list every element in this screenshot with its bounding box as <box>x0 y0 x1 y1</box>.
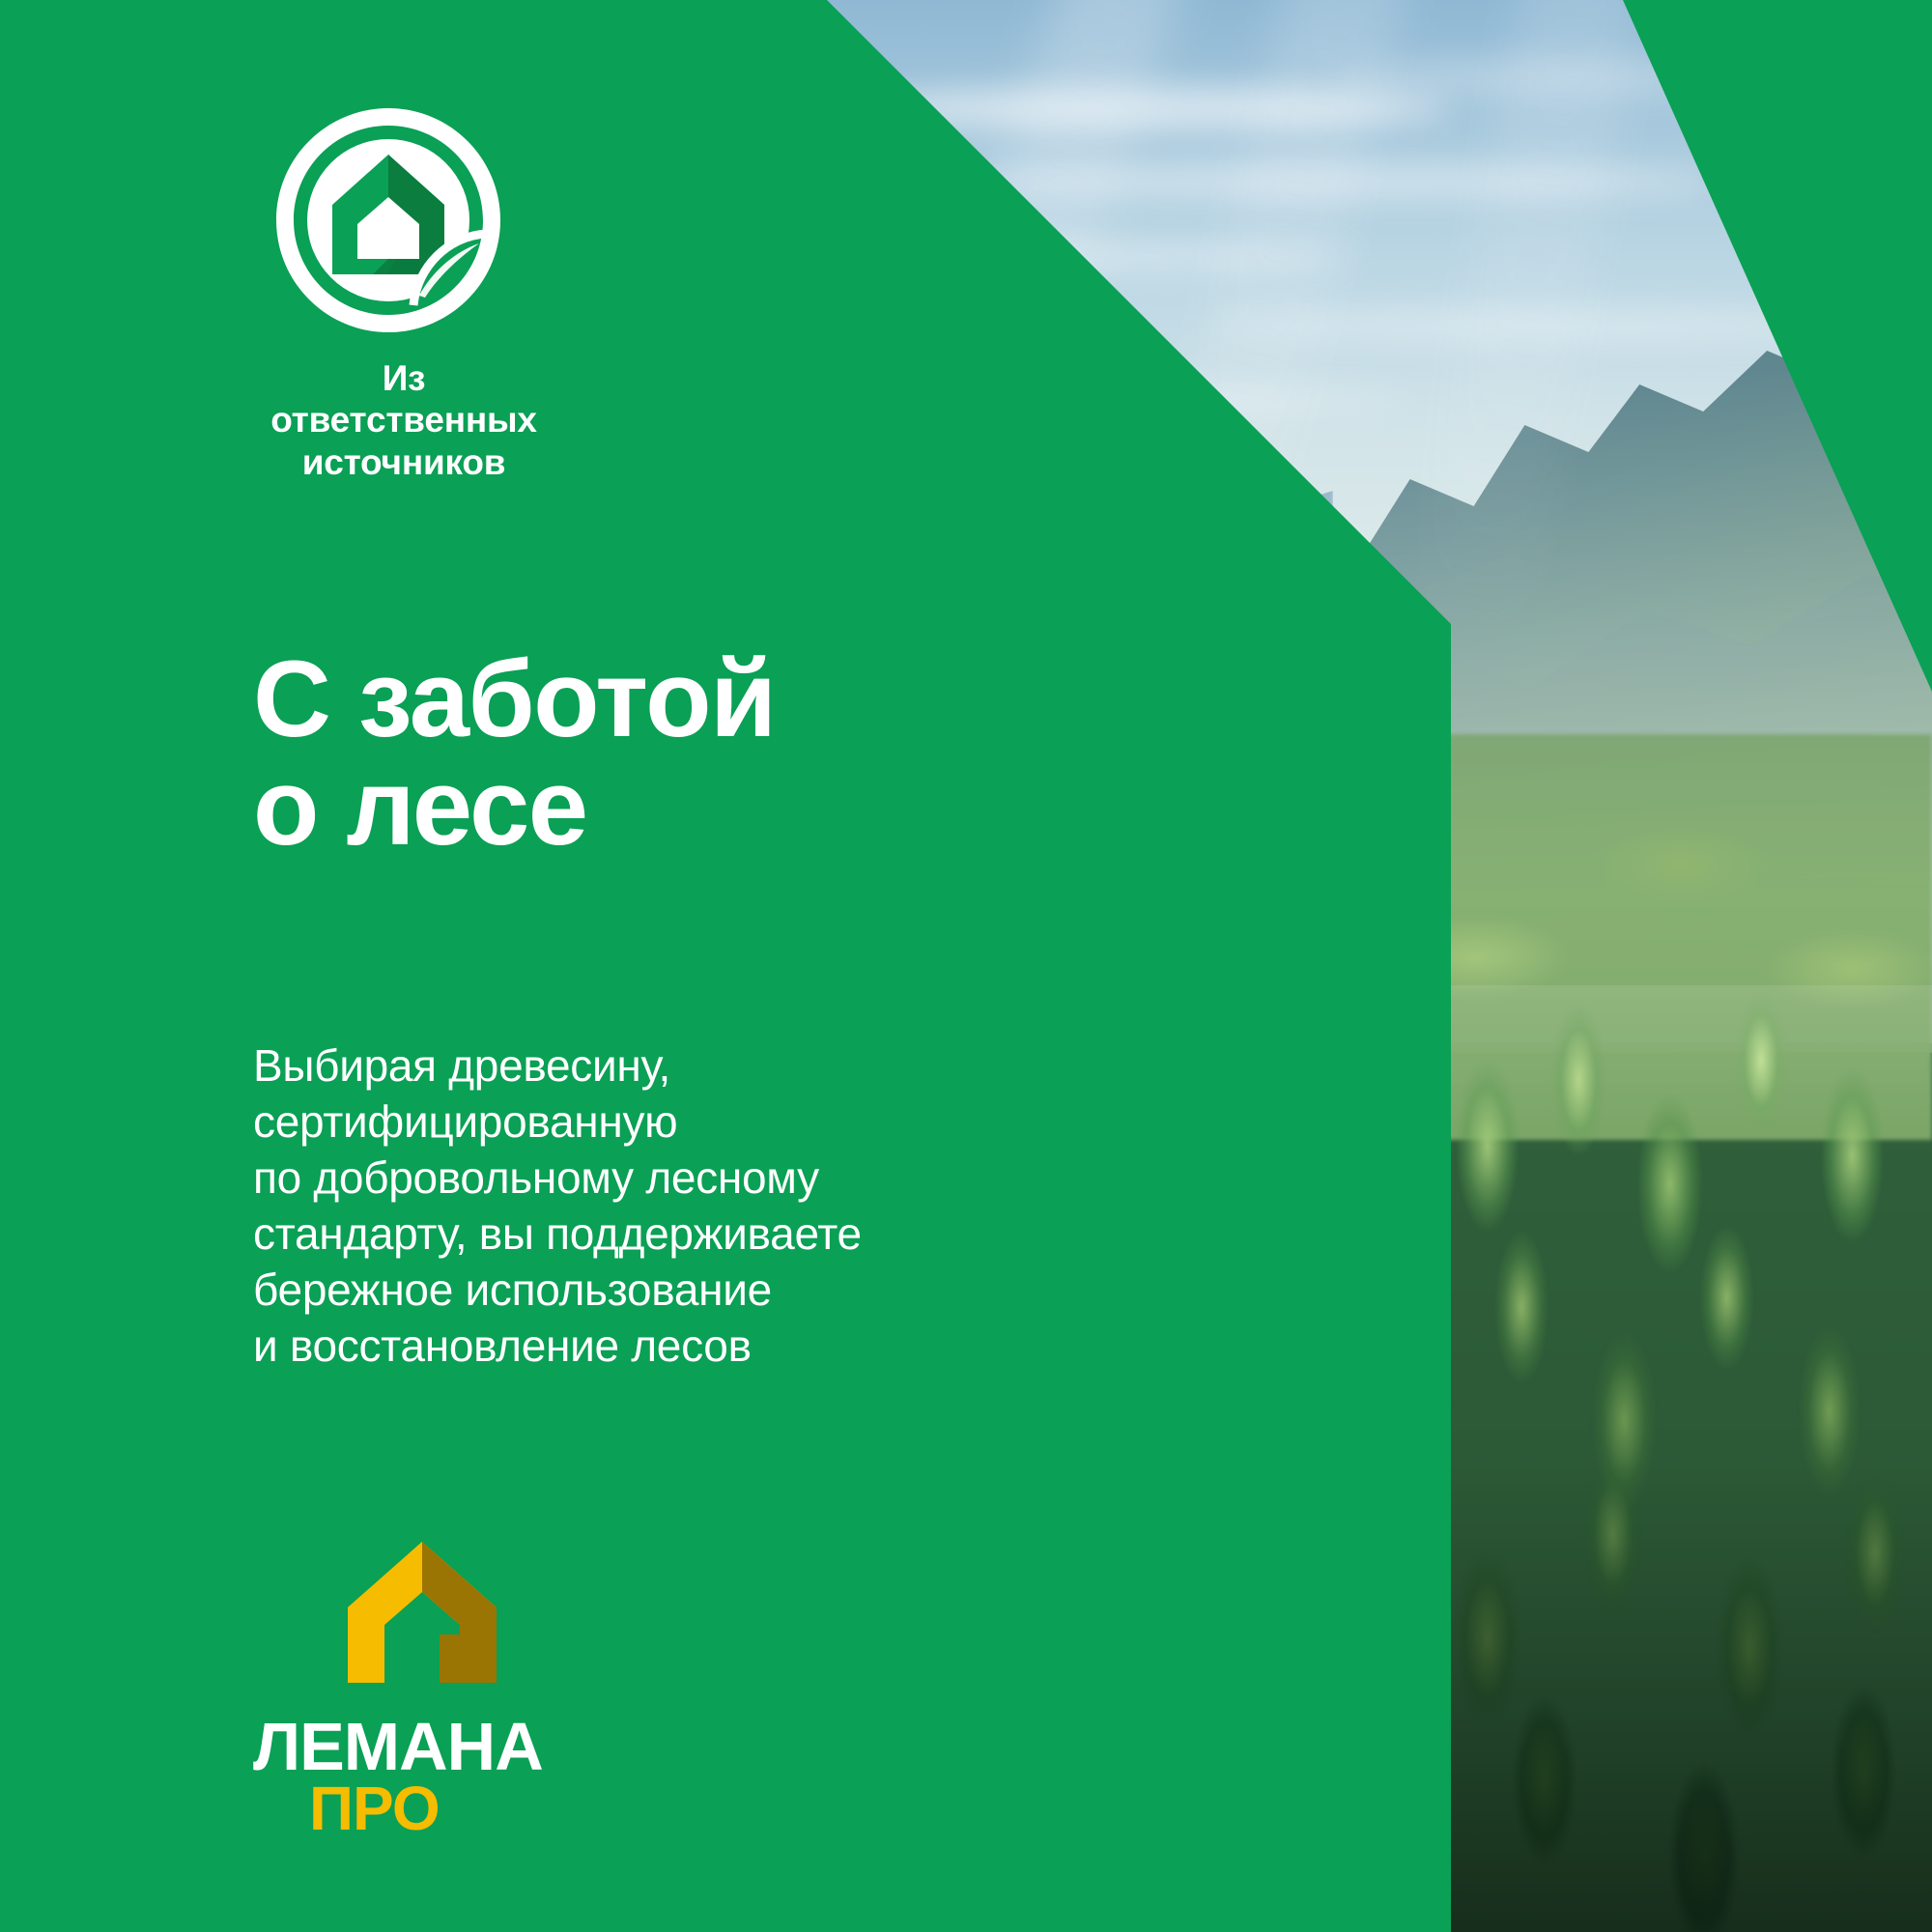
lemana-pro-wordmark: ЛЕМАНА ПРО <box>253 1710 582 1835</box>
responsible-sources-badge: Из ответственных источников <box>251 104 599 483</box>
brand-name-secondary: ПРО <box>309 1774 440 1835</box>
certified-forest-house-leaf-badge-icon <box>272 104 504 336</box>
lemana-pro-house-logo-icon <box>346 1540 498 1685</box>
poster: Из ответственных источников С заботой о … <box>0 0 1932 1932</box>
brand-lockup: ЛЕМАНА ПРО <box>253 1540 620 1835</box>
page-title: С заботой о лесе <box>253 645 775 862</box>
content-layer: Из ответственных источников С заботой о … <box>0 0 1932 1932</box>
body-text: Выбирая древесину, сертифицированную по … <box>253 1038 862 1375</box>
badge-caption: Из ответственных источников <box>251 357 556 483</box>
